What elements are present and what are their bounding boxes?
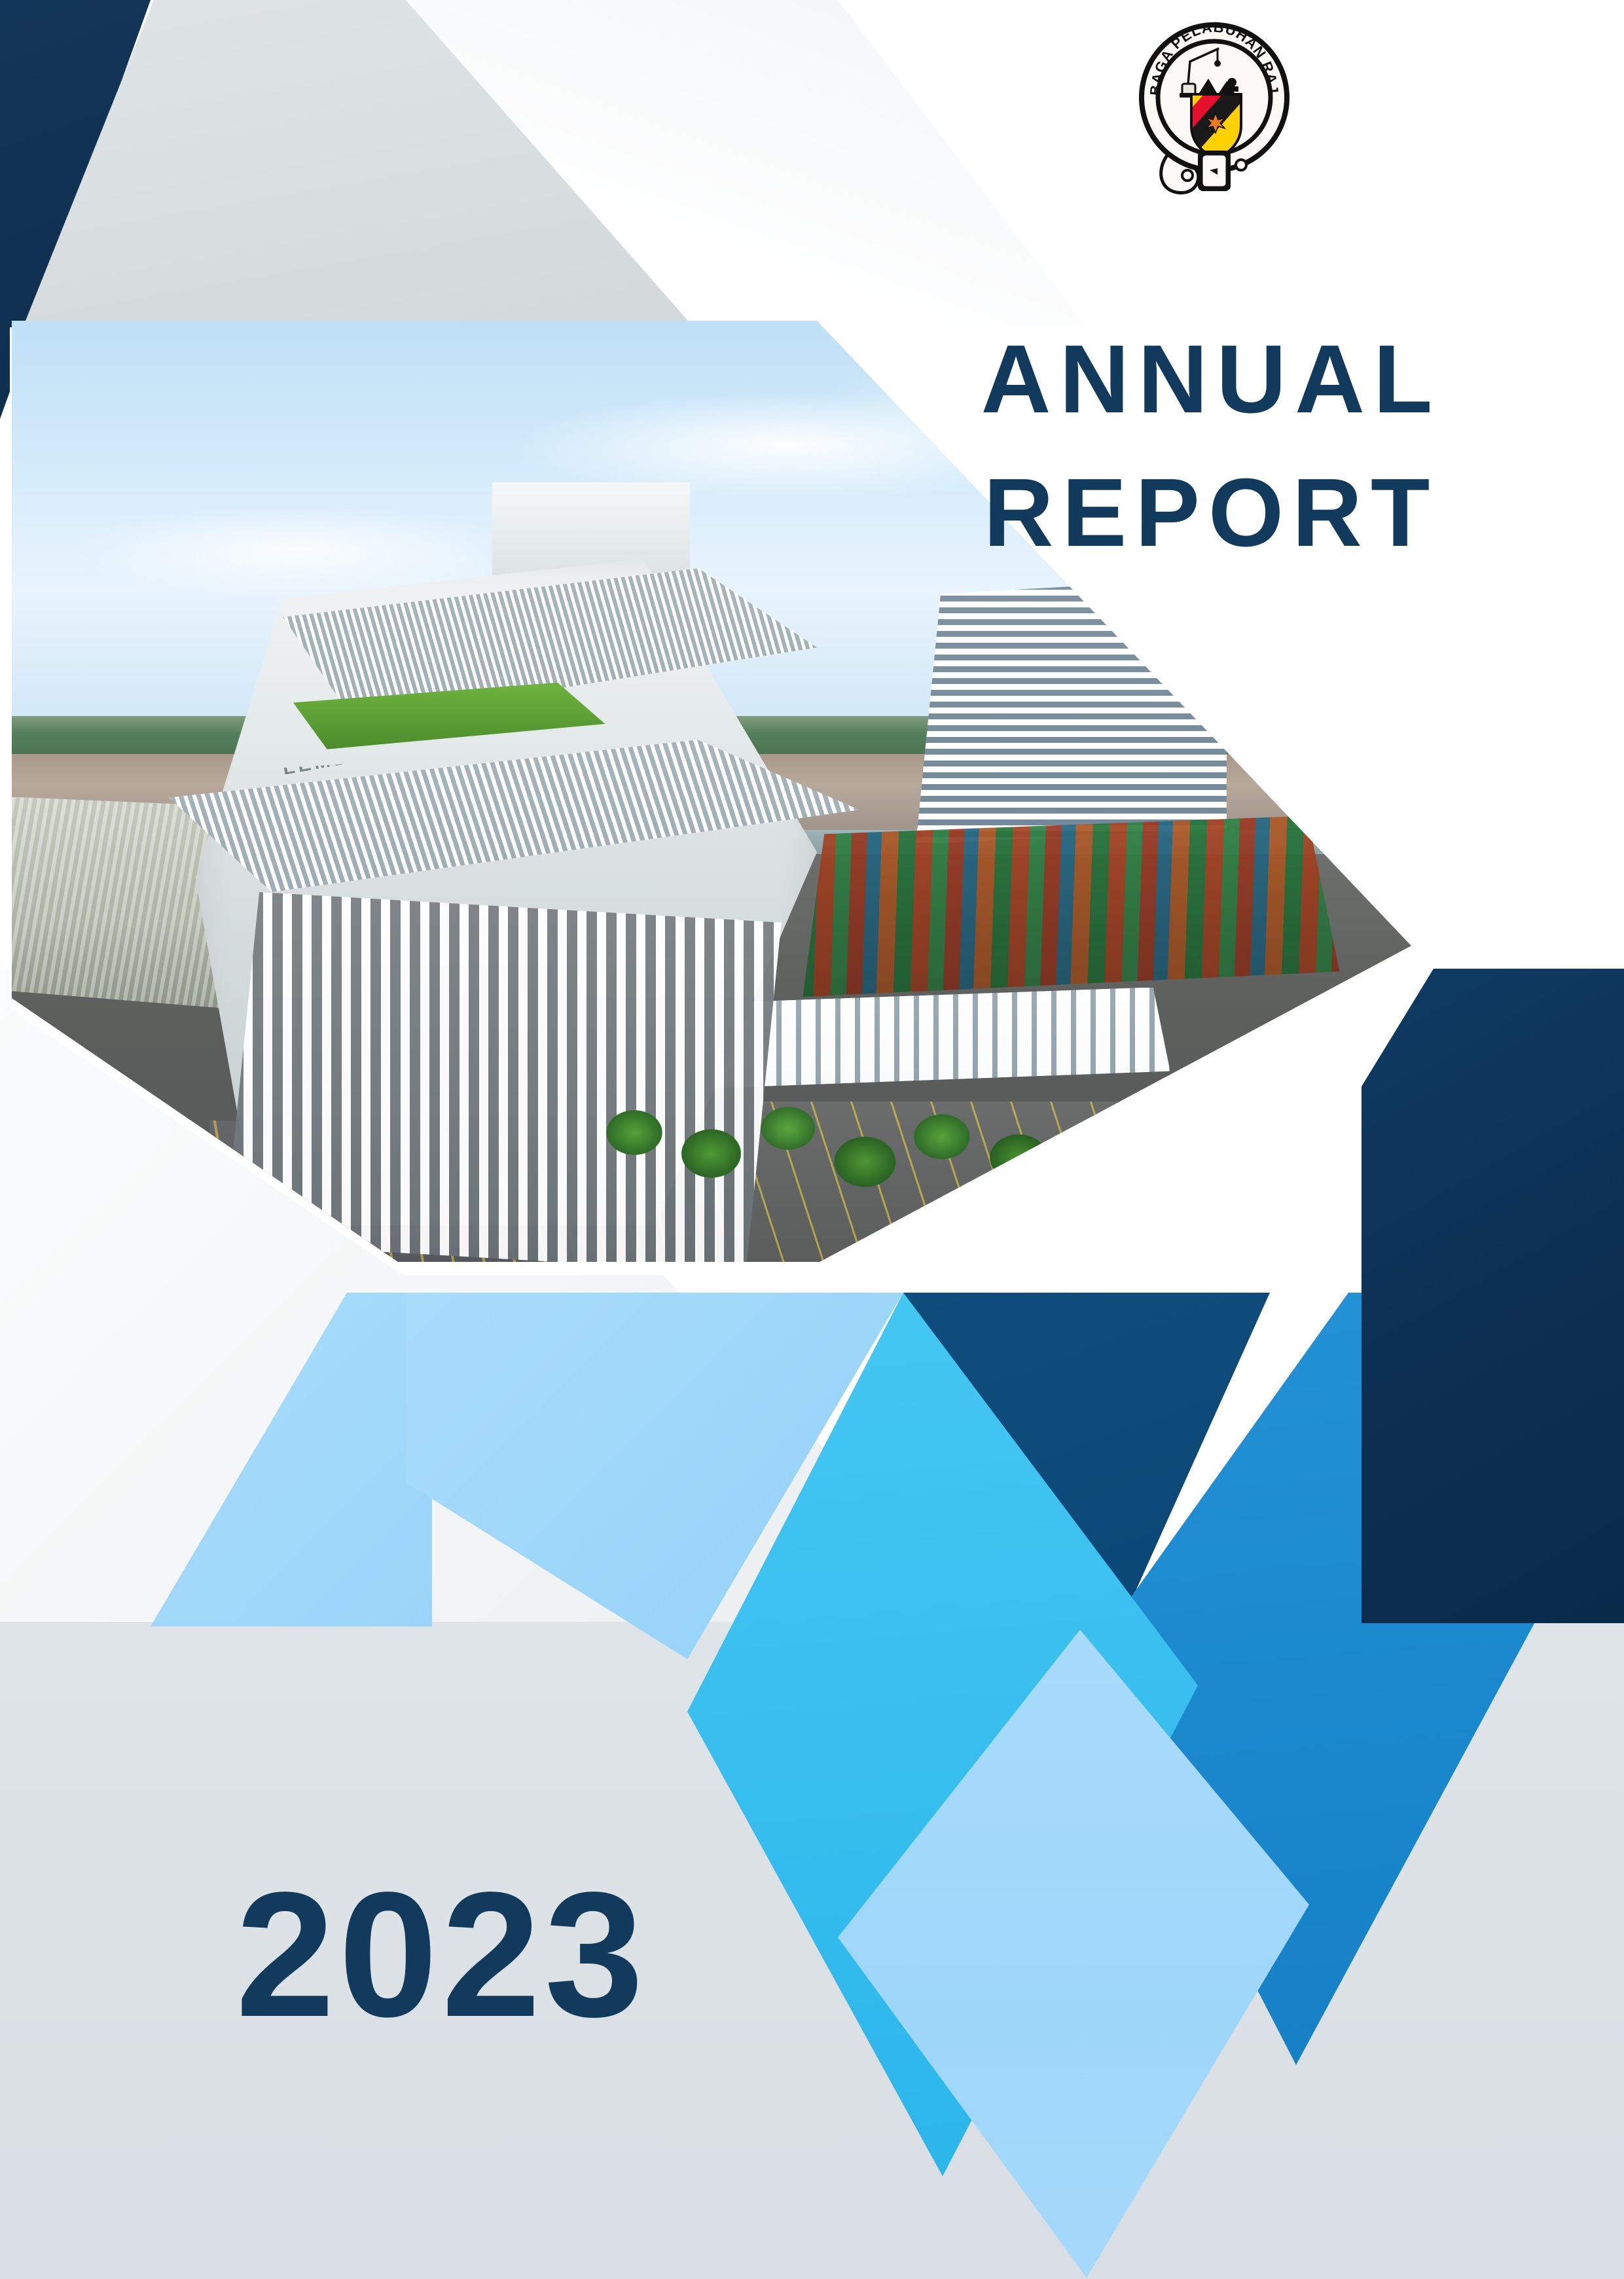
diamond-medium-blue-right (1087, 1293, 1564, 2065)
photo-front-trees (577, 1045, 1057, 1254)
annual-report-cover-page: LEMBAGA PELABUHAN RAJANG LEMBAGA PELABUH… (0, 0, 1624, 2279)
top-left-grey-wedge (0, 0, 694, 340)
cover-title-block: ANNUAL REPORT (969, 313, 1453, 580)
diamond-light-blue-left (151, 1293, 432, 1626)
cover-title-line-2: REPORT (969, 446, 1453, 580)
diamond-light-blue-upper (406, 1293, 903, 1659)
top-left-white-wedge (367, 0, 1087, 340)
photo-container-yard (803, 816, 1339, 997)
diamond-light-blue-lower (838, 1630, 1309, 2278)
photo-office-block (916, 578, 1227, 844)
diamond-sky-blue-center (687, 1293, 1198, 2176)
cover-year: 2023 (236, 1865, 647, 2043)
diamond-navy-upper (903, 1293, 1270, 1685)
organization-logo: LEMBAGA PELABUHAN RAJANG (1130, 18, 1299, 196)
right-navy-panel (1362, 969, 1624, 1623)
cover-title-line-1: ANNUAL (969, 313, 1453, 446)
